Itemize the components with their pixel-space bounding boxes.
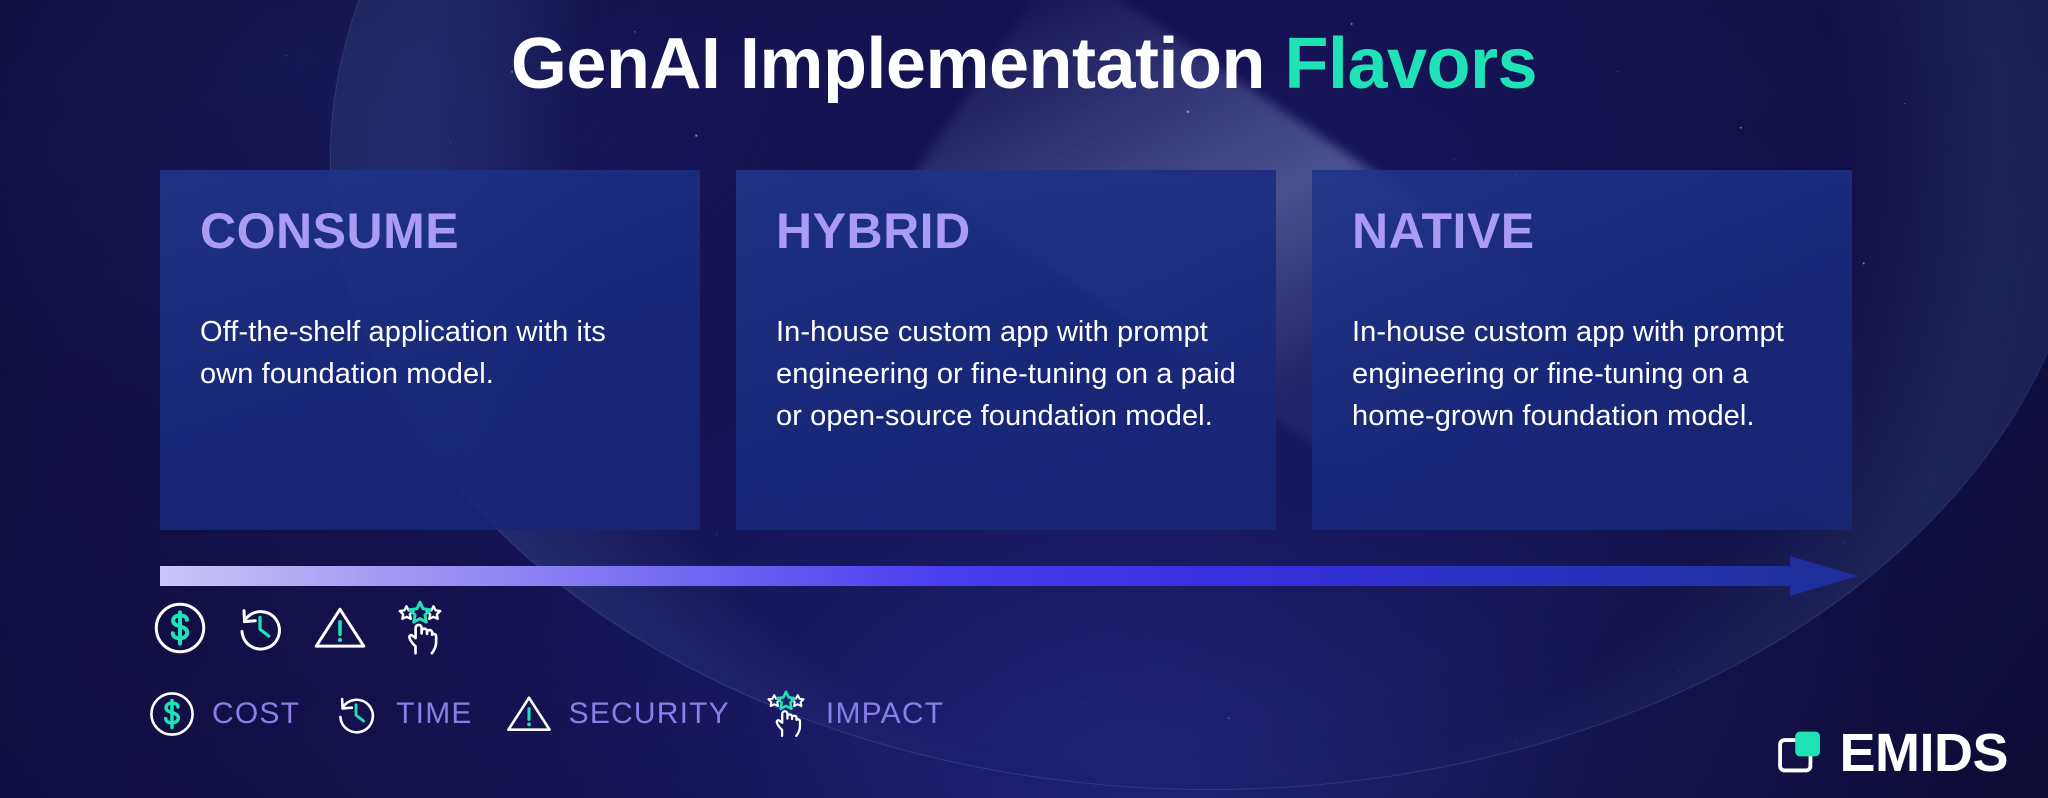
legend-item-security: SECURITY (503, 688, 760, 740)
page-title: GenAI Implementation Flavors (0, 26, 2048, 104)
flavor-card-body: Off-the-shelf application with its own f… (200, 312, 660, 396)
legend-item-impact: IMPACT (760, 688, 974, 740)
flavor-card-heading: CONSUME (200, 206, 660, 256)
warning-triangle-icon (503, 688, 555, 740)
flavor-card-consume[interactable]: CONSUME Off-the-shelf application with i… (160, 170, 700, 530)
legend-item-time: TIME (330, 688, 502, 740)
flavor-card-body: In-house custom app with prompt engineer… (1352, 312, 1812, 437)
stars-hand-impact-icon (760, 688, 812, 740)
legend-label: IMPACT (826, 697, 944, 731)
progression-arrow-head (1790, 556, 1858, 596)
slide-canvas: GenAI Implementation Flavors CONSUME Off… (0, 0, 2048, 798)
progression-arrow-bar (160, 566, 1792, 586)
page-title-main: GenAI Implementation (511, 24, 1285, 104)
legend-label: TIME (396, 697, 472, 731)
flavor-card-heading: NATIVE (1352, 206, 1812, 256)
emids-square-mark-icon (1775, 726, 1829, 780)
emids-logo[interactable]: EMIDS (1775, 726, 2008, 780)
emids-wordmark: EMIDS (1839, 726, 2008, 780)
dollar-circle-icon (146, 688, 198, 740)
flavor-card-heading: HYBRID (776, 206, 1236, 256)
flavor-card-native[interactable]: NATIVE In-house custom app with prompt e… (1312, 170, 1852, 530)
clock-history-icon (330, 688, 382, 740)
axis-icon-row (150, 598, 450, 658)
legend-label: COST (212, 697, 300, 731)
clock-history-icon (230, 598, 290, 658)
legend-label: SECURITY (569, 697, 730, 731)
legend: COST TIME SECURITY (146, 688, 974, 740)
dollar-circle-icon (150, 598, 210, 658)
stars-hand-impact-icon (390, 598, 450, 658)
progression-arrow (160, 556, 1860, 596)
flavor-card-hybrid[interactable]: HYBRID In-house custom app with prompt e… (736, 170, 1276, 530)
page-title-accent: Flavors (1284, 24, 1537, 104)
flavor-card-body: In-house custom app with prompt engineer… (776, 312, 1236, 437)
warning-triangle-icon (310, 598, 370, 658)
legend-item-cost: COST (146, 688, 330, 740)
